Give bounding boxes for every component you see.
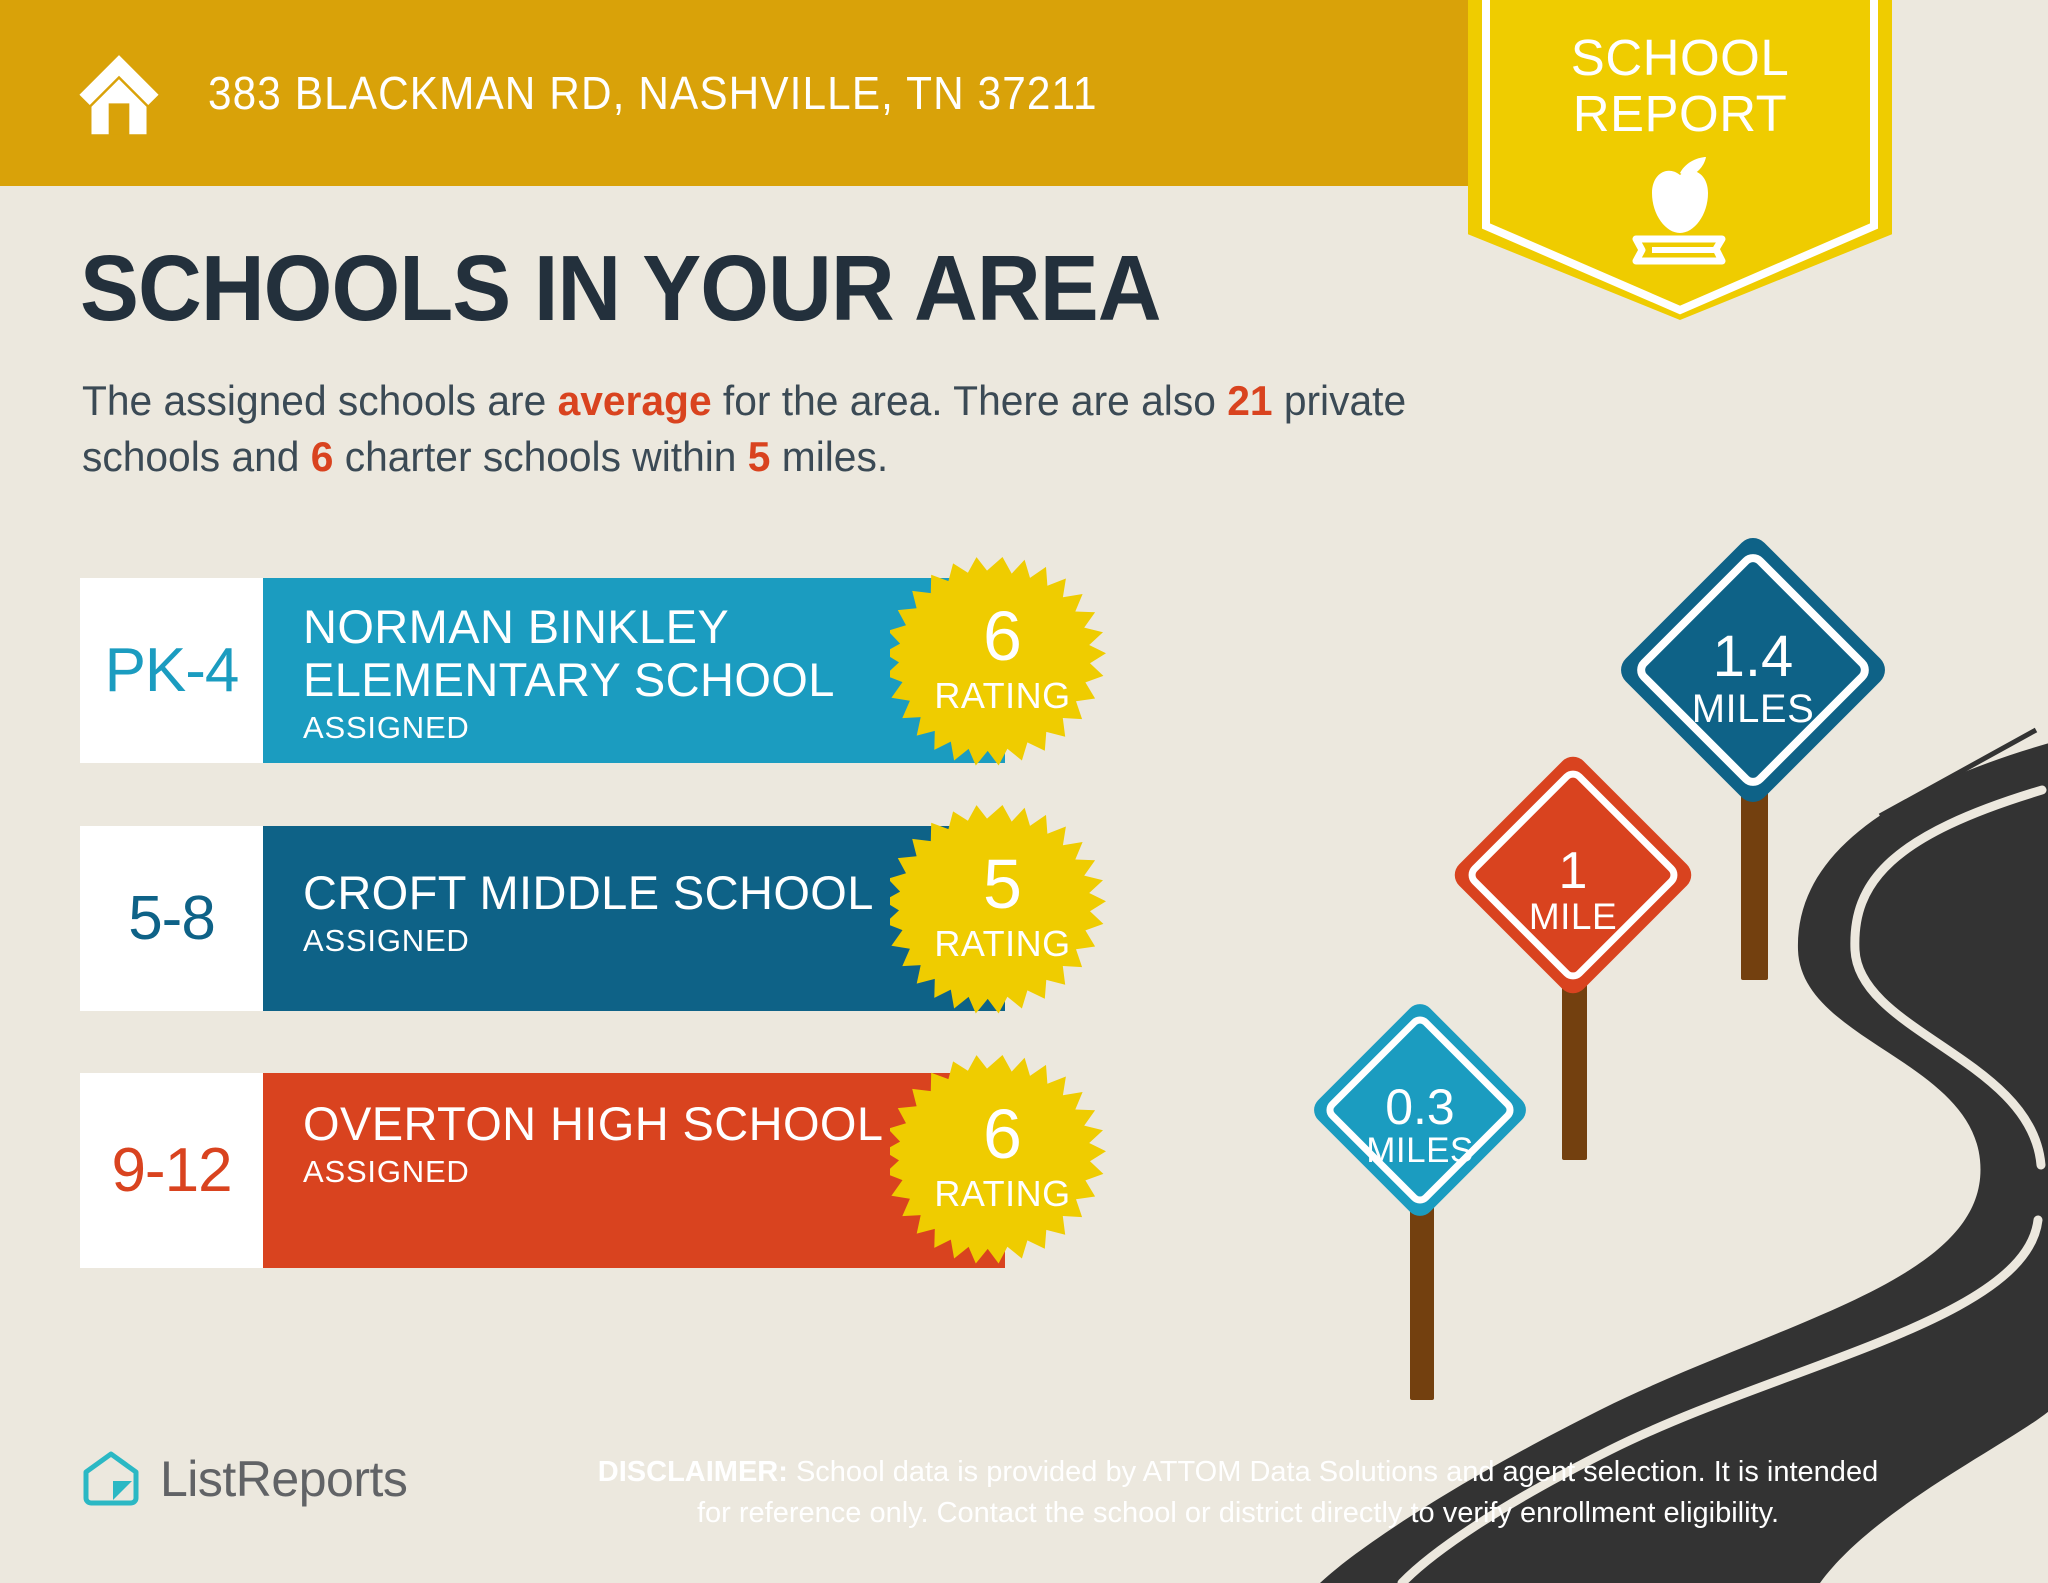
rating-badge-elementary: 6 RATING xyxy=(890,557,1115,782)
apple-book-icon xyxy=(1610,155,1750,273)
grade-range-badge: PK-4 xyxy=(80,578,263,763)
badge-line-1: SCHOOL xyxy=(1468,30,1892,86)
rating-badge-high: 6 RATING xyxy=(890,1055,1115,1280)
rating-label: RATING xyxy=(890,924,1115,964)
house-logo-icon xyxy=(80,1448,142,1510)
apple-icon xyxy=(1652,171,1708,233)
logo-text: ListReports xyxy=(160,1450,407,1508)
badge-icon-group xyxy=(1468,155,1892,278)
disclaimer-line-2: for reference only. Contact the school o… xyxy=(697,1497,1779,1529)
disclaimer: DISCLAIMER: School data is provided by A… xyxy=(588,1452,1888,1534)
school-report-infographic: 1.4 MILES 1 MILE 0.3 MILES xyxy=(0,0,2048,1583)
rating-value: 5 xyxy=(890,849,1115,919)
school-row-middle[interactable]: 5-8 CROFT MIDDLE SCHOOL ASSIGNED xyxy=(80,826,1005,1011)
badge-line-2: REPORT xyxy=(1468,86,1892,142)
rating-value: 6 xyxy=(890,1099,1115,1169)
school-row-elementary[interactable]: PK-4 NORMAN BINKLEY ELEMENTARY SCHOOL AS… xyxy=(80,578,1005,763)
grade-range-badge: 9-12 xyxy=(80,1073,263,1268)
rating-badge-middle: 5 RATING xyxy=(890,805,1115,1030)
school-row-high[interactable]: 9-12 OVERTON HIGH SCHOOL ASSIGNED xyxy=(80,1073,1005,1268)
rating-value: 6 xyxy=(890,601,1115,671)
disclaimer-line-1: School data is provided by ATTOM Data So… xyxy=(788,1456,1878,1488)
rating-label: RATING xyxy=(890,676,1115,716)
disclaimer-label: DISCLAIMER: xyxy=(598,1456,788,1488)
listreports-logo[interactable]: ListReports xyxy=(80,1448,407,1510)
rating-label: RATING xyxy=(890,1174,1115,1214)
grade-range-badge: 5-8 xyxy=(80,826,263,1011)
badge-title: SCHOOL REPORT xyxy=(1468,30,1892,142)
